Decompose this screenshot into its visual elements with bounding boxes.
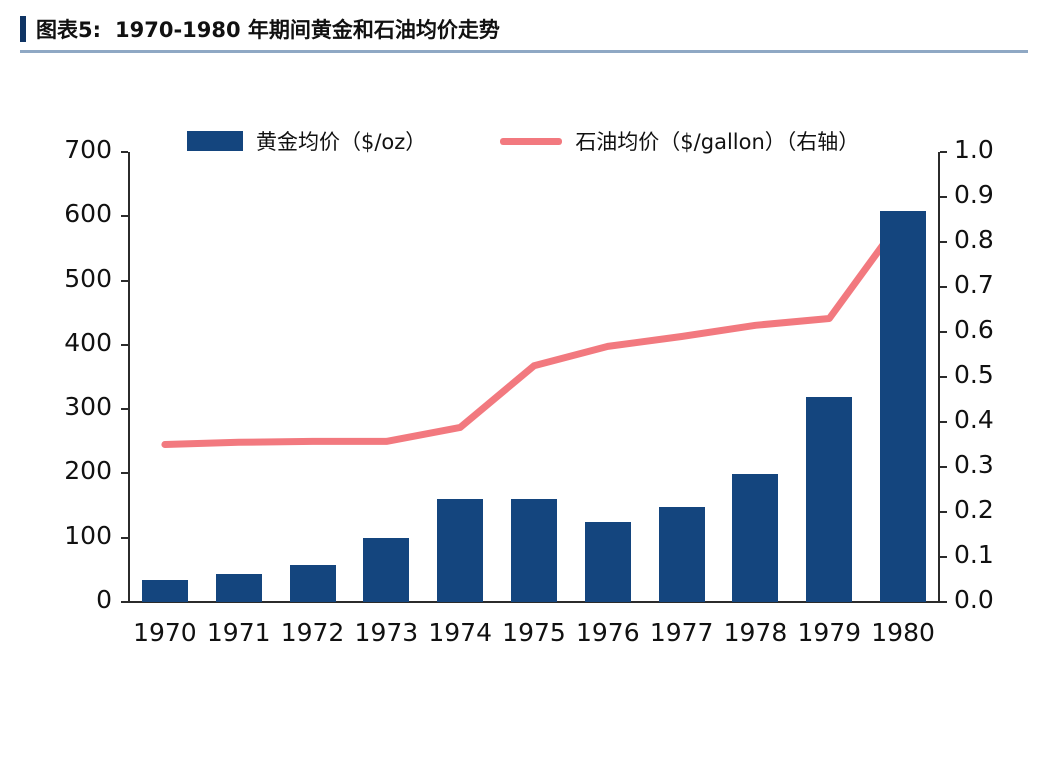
y-axis-left-tick-label: 500	[0, 264, 112, 293]
legend-line-swatch-icon	[500, 138, 562, 145]
x-axis-tick-label: 1977	[645, 618, 719, 647]
y-axis-left-tick-label: 600	[0, 199, 112, 228]
y-axis-right-tick-mark	[940, 331, 947, 333]
x-axis-tick-label: 1971	[202, 618, 276, 647]
x-axis-tick-label: 1973	[349, 618, 423, 647]
y-axis-left-tick-mark	[121, 537, 128, 539]
bar	[732, 474, 778, 602]
bar	[806, 397, 852, 602]
x-axis-tick-label: 1978	[719, 618, 793, 647]
bar	[880, 211, 926, 602]
bar	[585, 522, 631, 602]
bar	[511, 499, 557, 603]
y-axis-left-tick-mark	[121, 151, 128, 153]
x-axis-tick-label: 1974	[423, 618, 497, 647]
y-axis-left-tick-label: 0	[0, 585, 112, 614]
y-axis-right-tick-label: 0.8	[954, 225, 994, 254]
y-axis-right-tick-mark	[940, 151, 947, 153]
y-axis-left-tick-label: 100	[0, 521, 112, 550]
bar	[437, 499, 483, 603]
y-axis-left-tick-mark	[121, 344, 128, 346]
y-axis-right-tick-label: 0.3	[954, 450, 994, 479]
y-axis-right-tick-mark	[940, 556, 947, 558]
y-axis-right-tick-label: 0.5	[954, 360, 994, 389]
y-axis-right-tick-label: 0.0	[954, 585, 994, 614]
bar	[659, 507, 705, 602]
y-axis-right-tick-label: 0.1	[954, 540, 994, 569]
y-axis-right-tick-mark	[940, 376, 947, 378]
y-axis-left-tick-label: 700	[0, 135, 112, 164]
y-axis-right-tick-mark	[940, 241, 947, 243]
bar	[216, 574, 262, 602]
bar	[142, 580, 188, 603]
chart-page: 图表5: 1970-1980 年期间黄金和石油均价走势 黄金均价（$/oz） 石…	[0, 0, 1048, 760]
figure-label: 图表5:	[36, 14, 101, 44]
y-axis-left-tick-mark	[121, 280, 128, 282]
y-axis-right-tick-label: 0.2	[954, 495, 994, 524]
x-axis-tick-label: 1979	[792, 618, 866, 647]
y-axis-right-tick-label: 0.4	[954, 405, 994, 434]
x-axis-tick-label: 1976	[571, 618, 645, 647]
y-axis-right-tick-mark	[940, 286, 947, 288]
page-title: 1970-1980 年期间黄金和石油均价走势	[115, 14, 500, 44]
y-axis-right-tick-label: 0.9	[954, 180, 994, 209]
y-axis-left-tick-label: 300	[0, 392, 112, 421]
y-axis-left-tick-mark	[121, 408, 128, 410]
y-axis-left-tick-mark	[121, 472, 128, 474]
y-axis-right-tick-mark	[940, 601, 947, 603]
x-axis-tick-label: 1980	[866, 618, 940, 647]
chart-header: 图表5: 1970-1980 年期间黄金和石油均价走势	[20, 8, 1028, 50]
y-axis-right-tick-mark	[940, 196, 947, 198]
y-axis-left-tick-label: 400	[0, 328, 112, 357]
y-axis-left-tick-label: 200	[0, 456, 112, 485]
y-axis-right-tick-label: 1.0	[954, 135, 994, 164]
header-divider	[20, 50, 1028, 53]
bar	[290, 565, 336, 602]
y-axis-left-tick-mark	[121, 215, 128, 217]
legend-bar-swatch-icon	[187, 131, 243, 151]
y-axis-right-tick-label: 0.6	[954, 315, 994, 344]
x-axis-tick-label: 1970	[128, 618, 202, 647]
y-axis-right-tick-mark	[940, 421, 947, 423]
bar	[363, 538, 409, 602]
y-axis-right-tick-mark	[940, 511, 947, 513]
y-axis-left-tick-mark	[121, 601, 128, 603]
y-axis-right-tick-label: 0.7	[954, 270, 994, 299]
y-axis-right-tick-mark	[940, 466, 947, 468]
x-axis-tick-label: 1972	[276, 618, 350, 647]
header-accent-bar	[20, 16, 26, 42]
x-axis-tick-label: 1975	[497, 618, 571, 647]
